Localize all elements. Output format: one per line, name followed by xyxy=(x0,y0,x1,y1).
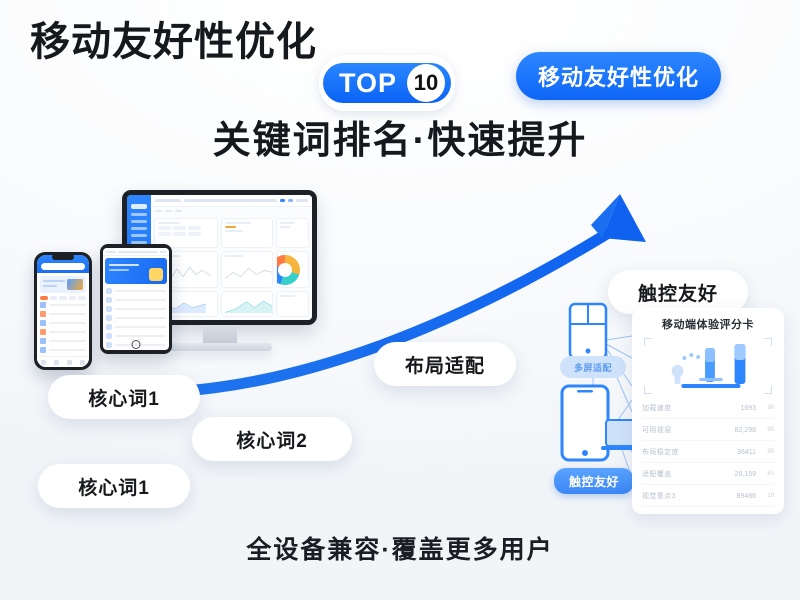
top-badge-number: 10 xyxy=(407,64,445,102)
widget-donut-chart xyxy=(276,251,309,288)
list-item xyxy=(106,288,166,294)
dashboard-topbar xyxy=(151,195,312,207)
page-title: 移动友好性优化 xyxy=(30,22,317,62)
list-item xyxy=(106,315,166,321)
row-score: 60 xyxy=(756,471,774,477)
widget-metric xyxy=(276,218,309,248)
phone-banner-card xyxy=(40,276,86,293)
device-mockups xyxy=(22,190,342,365)
row-value: 89486 xyxy=(726,493,756,500)
list-item xyxy=(40,320,86,326)
widget-spare xyxy=(276,291,309,317)
tablet-mockup xyxy=(100,244,172,354)
list-item xyxy=(106,297,166,303)
row-score: 99 xyxy=(756,449,774,455)
table-row: 轻触目标间距 22449 41 xyxy=(642,508,774,514)
keyword-pill-1: 核心词1 xyxy=(48,375,200,419)
list-item xyxy=(106,324,166,330)
search-input[interactable] xyxy=(41,263,85,270)
dashboard-body xyxy=(151,195,312,320)
row-score: 18 xyxy=(756,493,774,499)
phone-screen xyxy=(37,255,89,367)
widget-bar-chart xyxy=(221,251,272,288)
list-item xyxy=(40,338,86,344)
table-row: 适配覆盖 28,159 60 xyxy=(642,464,774,485)
row-name: 加载速度 xyxy=(642,403,726,413)
top-badge-word: TOP xyxy=(339,70,407,97)
table-row: 加载速度 1693 98 xyxy=(642,398,774,419)
row-name: 布局稳定度 xyxy=(642,447,726,457)
list-item xyxy=(40,302,86,308)
list-item xyxy=(40,311,86,317)
status-badge-mobile-optimization: 移动友好性优化 xyxy=(516,52,721,100)
footer-tagline: 全设备兼容·覆盖更多用户 xyxy=(0,530,800,566)
top-badge-inner: TOP 10 xyxy=(323,63,451,103)
keyword-pill-layout-adapt: 布局适配 xyxy=(374,342,516,386)
keyword-pill-3: 核心词1 xyxy=(38,464,190,508)
tablet-topbar xyxy=(103,248,169,256)
row-value: 36411 xyxy=(726,449,756,456)
diagram-pill-multiscreen: 多屏适配 xyxy=(560,356,626,378)
donut-chart-icon xyxy=(276,255,300,285)
top-10-badge: TOP 10 xyxy=(319,55,455,111)
row-value: 1693 xyxy=(726,405,756,412)
row-name: 可用视窗 xyxy=(642,425,726,435)
poster-canvas: 移动友好性优化 TOP 10 移动友好性优化 关键词排名·快速提升 xyxy=(0,0,800,600)
mobile-score-card: 移动端体验评分卡 加载速 xyxy=(632,308,784,514)
bar-chart-illustration xyxy=(644,338,772,394)
phone-tab-bar[interactable] xyxy=(37,356,89,367)
row-score: 98 xyxy=(756,405,774,411)
table-row: 布局稳定度 36411 99 xyxy=(642,442,774,463)
row-name: 轻触目标间距 xyxy=(642,513,726,514)
table-row: 视觉重点3 89486 18 xyxy=(642,486,774,507)
row-score: 95 xyxy=(756,427,774,433)
table-row: 可用视窗 82,298 95 xyxy=(642,420,774,441)
row-name: 视觉重点3 xyxy=(642,491,726,501)
score-card-chart xyxy=(644,338,772,394)
tablet-home-button xyxy=(132,340,141,349)
phone-mockup xyxy=(34,252,92,370)
phone-notch xyxy=(52,254,74,260)
score-card-rows: 加载速度 1693 98 可用视窗 82,298 95 布局稳定度 36411 … xyxy=(642,398,774,514)
list-item xyxy=(40,329,86,335)
widget-area-chart-2 xyxy=(221,291,272,317)
score-card-title: 移动端体验评分卡 xyxy=(642,316,774,332)
dashboard-widgets xyxy=(151,215,312,320)
page-subtitle: 关键词排名·快速提升 xyxy=(0,122,800,160)
monitor-stand-foot xyxy=(168,343,272,351)
multi-device-diagram: 多屏适配 触控友好 移动端体验评分卡 xyxy=(548,300,788,515)
list-item xyxy=(106,306,166,312)
list-item xyxy=(40,347,86,353)
row-value: 82,298 xyxy=(726,427,756,434)
list-item xyxy=(106,333,166,339)
tablet-hero-banner xyxy=(105,258,167,284)
tablet-screen xyxy=(103,248,169,350)
row-value: 28,159 xyxy=(726,471,756,478)
keyword-pill-2: 核心词2 xyxy=(192,417,352,461)
monitor-stand-neck xyxy=(203,325,237,345)
widget-summary xyxy=(221,218,272,248)
dashboard-toolbar xyxy=(151,207,312,215)
row-name: 适配覆盖 xyxy=(642,469,726,479)
diagram-pill-touch-friendly: 触控友好 xyxy=(554,468,634,494)
